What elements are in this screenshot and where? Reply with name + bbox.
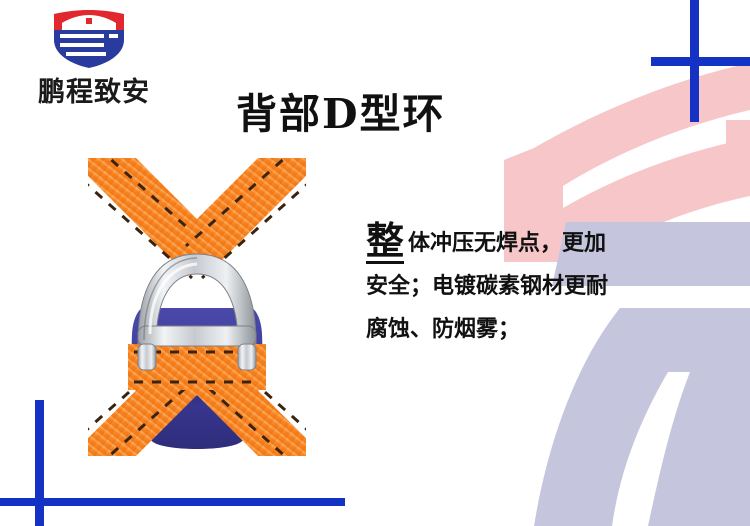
- d-ring-crossbar: [138, 326, 256, 346]
- brand-wordmark: 鹏程致安: [14, 70, 174, 109]
- copy-line-1-rest: 体冲压无焊点，更加: [408, 231, 606, 256]
- shield-logo-icon: [52, 10, 126, 68]
- copy-line-2: 安全；电镀碳素钢材更耐: [366, 265, 666, 308]
- promo-banner: 鹏程致安 背部D型环: [0, 0, 750, 526]
- rule-bottom-left-vertical: [35, 400, 44, 526]
- rule-bottom-left-horizontal: [0, 498, 345, 506]
- rule-top-right-horizontal: [651, 57, 750, 66]
- copy-line-1: 整体冲压无焊点，更加: [366, 222, 666, 265]
- purple-letterform-wedge: [648, 372, 750, 526]
- product-photo-illustration: [88, 158, 306, 456]
- pink-letterform-foot: [726, 120, 750, 182]
- copy-line-3: 腐蚀、防烟雾；: [366, 308, 666, 351]
- brand-logo: 鹏程致安: [14, 8, 174, 108]
- copy-lead-character: 整: [366, 222, 404, 264]
- page-title: 背部D型环: [236, 92, 536, 137]
- product-photo: [88, 158, 306, 456]
- feature-copy: 整体冲压无焊点，更加 安全；电镀碳素钢材更耐 腐蚀、防烟雾；: [366, 222, 666, 351]
